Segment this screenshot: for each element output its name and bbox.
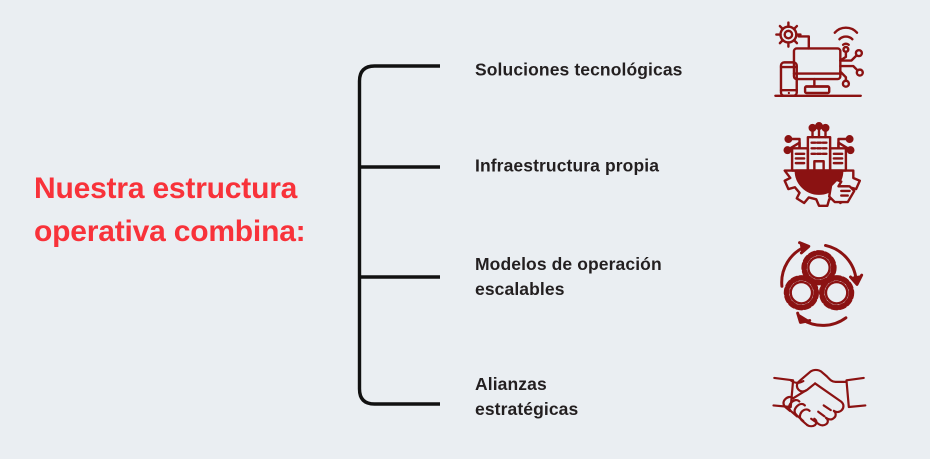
scalable-operating-models-icon <box>768 232 870 334</box>
list-item-label-0: Soluciones tecnológicas <box>475 58 745 83</box>
page-title: Nuestra estructura operativa combina: <box>34 167 354 253</box>
list-item-label-1: Infraestructura propia <box>475 154 745 179</box>
technology-solutions-icon <box>768 10 870 112</box>
list-item-label-2: Modelos de operación escalables <box>475 252 745 302</box>
own-infrastructure-icon <box>768 120 870 222</box>
strategic-alliances-icon <box>768 350 870 442</box>
list-item-label-3: Alianzas estratégicas <box>475 372 745 422</box>
slide-canvas: Nuestra estructura operativa combina: So… <box>0 0 930 459</box>
bracket-connector <box>350 55 450 415</box>
